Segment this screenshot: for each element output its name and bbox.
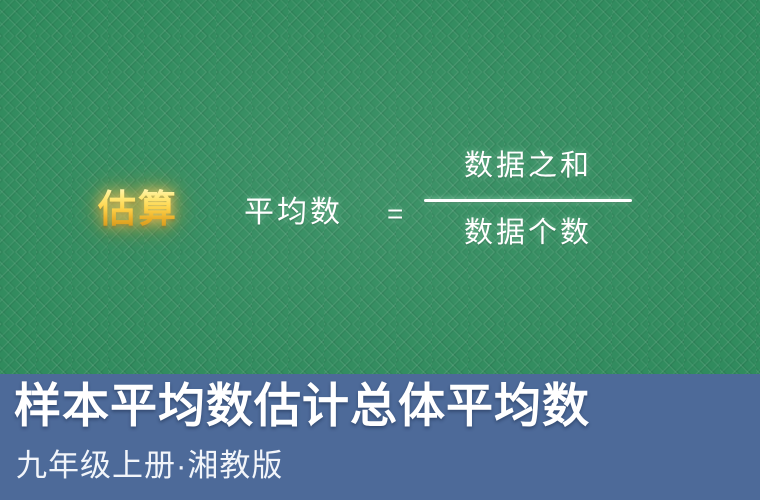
formula-fraction: 数据之和 数据个数 — [424, 146, 632, 253]
lesson-title: 样本平均数估计总体平均数 — [14, 378, 590, 434]
estimation-badge: 估算 — [98, 188, 178, 232]
slide-canvas: 估算 平均数 = 数据之和 数据个数 样本平均数估计总体平均数 九年级上册·湘教… — [0, 0, 760, 500]
formula-equals-sign: = — [387, 195, 403, 233]
formula-left-term: 平均数 — [244, 194, 343, 232]
lesson-subtitle: 九年级上册·湘教版 — [16, 446, 283, 486]
formula-numerator: 数据之和 — [424, 146, 632, 186]
formula-denominator: 数据个数 — [424, 213, 632, 253]
fraction-bar — [424, 199, 632, 202]
